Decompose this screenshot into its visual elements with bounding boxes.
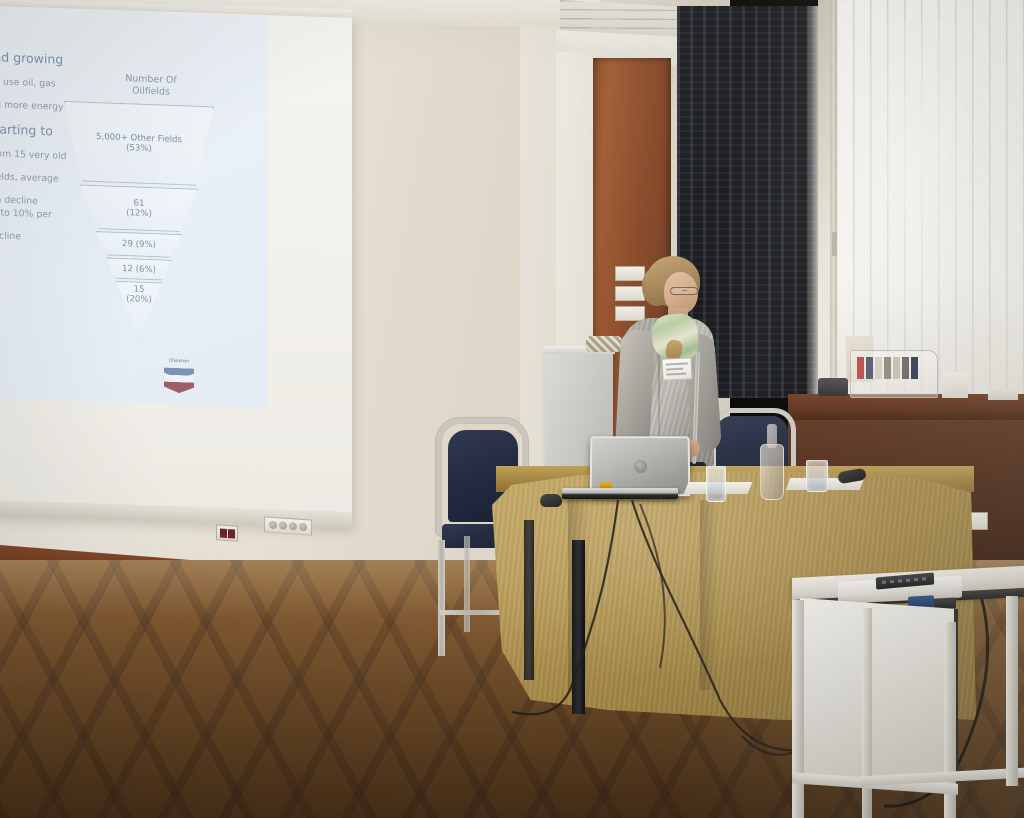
badge-text-line (666, 362, 688, 365)
data-port[interactable] (220, 528, 227, 537)
projected-slide: " and growing ng to use oil, gas using m… (0, 6, 268, 408)
computer-mouse[interactable] (540, 494, 562, 507)
wall-column-white (556, 52, 596, 382)
chair-left-leg-front-left (438, 540, 445, 656)
av-cart-leg-front-left (792, 600, 804, 818)
funnel-segment-4-label: 12 (6%) (122, 263, 156, 274)
funnel-segment-2-percent: (12%) (126, 208, 152, 219)
chevron-wordmark: Chevron (162, 358, 196, 364)
water-carafe-body[interactable] (760, 444, 784, 500)
funnel-segment-5: 15 (20%) (116, 281, 162, 339)
remote-button[interactable] (898, 579, 902, 582)
data-port[interactable] (228, 529, 235, 538)
brochure-card (911, 357, 918, 379)
name-badge (661, 357, 692, 381)
funnel-segment-3: 29 (9%) (96, 231, 182, 258)
av-cart-front-panel (800, 598, 958, 787)
chevron-stripe-red-icon (164, 382, 194, 394)
chair-left-leg-back-left (464, 536, 470, 632)
power-socket[interactable] (279, 521, 287, 530)
water-glass-left[interactable] (706, 466, 726, 502)
brochure-card (893, 357, 900, 379)
sill-dark-object (818, 378, 848, 396)
funnel-segment-4: 12 (6%) (106, 257, 172, 280)
eyeglasses-icon (670, 287, 698, 295)
window-mullion (830, 0, 837, 398)
conference-room-photo: " and growing ng to use oil, gas using m… (0, 0, 1024, 818)
water-carafe-neck (767, 424, 777, 448)
remote-button[interactable] (922, 577, 926, 580)
power-outlet-plate[interactable] (264, 516, 312, 535)
remote-button[interactable] (906, 579, 910, 582)
badge-text-line (666, 373, 686, 376)
power-socket[interactable] (299, 523, 307, 532)
slide-line-0: " and growing (0, 50, 88, 68)
table-leg-left (524, 520, 534, 680)
inverted-funnel-chart: 5,000+ Other Fields (53%) 61 (12%) 29 (9… (64, 101, 214, 322)
brochure-card (884, 357, 891, 379)
funnel-segment-2: 61 (12%) (80, 184, 198, 232)
funnel-segment-3-label: 29 (9%) (122, 239, 156, 250)
funnel-segment-5-percent: (20%) (126, 294, 152, 305)
chevron-logo: Chevron (162, 358, 196, 399)
badge-text-line (666, 368, 683, 371)
chart-title: Number Of Oilfields (96, 72, 206, 99)
sill-white-object-2 (988, 388, 1018, 400)
sill-white-object (942, 372, 968, 398)
window-handle[interactable] (832, 232, 837, 256)
laptop-logo-icon (634, 460, 647, 473)
brochure-card (866, 357, 873, 379)
laptop-base[interactable] (562, 488, 678, 499)
remote-button[interactable] (882, 581, 886, 584)
remote-button[interactable] (890, 580, 894, 583)
brochure-card (857, 357, 864, 379)
slide-line-1: ng to use oil, gas (0, 76, 88, 91)
remote-button[interactable] (914, 578, 918, 581)
power-socket[interactable] (269, 521, 277, 530)
window-daylight-glow (860, 20, 980, 350)
power-socket[interactable] (289, 522, 297, 531)
brochure-card (902, 357, 909, 379)
funnel-segment-1: 5,000+ Other Fields (53%) (64, 101, 214, 187)
brochure-rack[interactable] (850, 350, 938, 398)
data-ports[interactable] (216, 524, 238, 542)
tablecloth-fold-2 (700, 500, 718, 690)
table-leg-front (572, 540, 585, 714)
water-glass-right[interactable] (806, 460, 828, 492)
brochure-card (875, 357, 882, 379)
av-cart-leg-far-right (1006, 596, 1018, 786)
